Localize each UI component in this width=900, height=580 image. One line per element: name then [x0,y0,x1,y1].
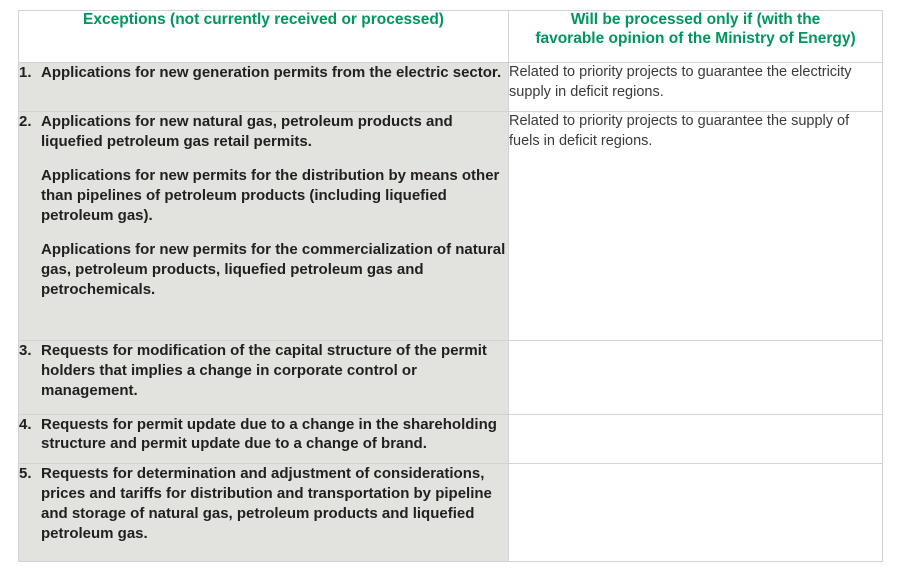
column-header-exceptions: Exceptions (not currently received or pr… [19,11,509,63]
exception-text-4: Requests for permit update due to a chan… [41,416,497,453]
table-row: 3.Requests for modification of the capit… [19,340,883,414]
table-row: 1.Applications for new generation permit… [19,63,883,112]
exception-number-2: 2. [19,112,41,132]
exceptions-table: Exceptions (not currently received or pr… [18,10,883,562]
condition-cell-2: Related to priority projects to guarante… [509,112,883,340]
exception-cell-1: 1.Applications for new generation permit… [19,63,509,112]
exception-text-2-para-3: Applications for new permits for the com… [19,240,508,300]
exception-number-1: 1. [19,63,41,83]
exceptions-table-container: Exceptions (not currently received or pr… [18,10,882,562]
exception-text-1: Applications for new generation permits … [41,64,501,81]
table-header: Exceptions (not currently received or pr… [19,11,883,63]
column-header-conditions-line2: favorable opinion of the Ministry of Ene… [535,30,855,47]
table-header-row: Exceptions (not currently received or pr… [19,11,883,63]
exception-cell-3: 3.Requests for modification of the capit… [19,340,509,414]
exception-number-4: 4. [19,415,41,435]
condition-cell-3 [509,340,883,414]
condition-text-2: Related to priority projects to guarante… [509,112,882,152]
table-body: 1.Applications for new generation permit… [19,63,883,562]
table-row: 5.Requests for determination and adjustm… [19,464,883,562]
condition-cell-1: Related to priority projects to guarante… [509,63,883,112]
exception-item-5: 5.Requests for determination and adjustm… [19,464,508,544]
exception-number-3: 3. [19,341,41,361]
table-row: 2.Applications for new natural gas, petr… [19,112,883,340]
exception-text-5: Requests for determination and adjustmen… [41,465,492,542]
condition-text-1: Related to priority projects to guarante… [509,63,882,103]
exception-text-2: Applications for new natural gas, petrol… [41,113,453,150]
exception-number-5: 5. [19,464,41,484]
column-header-conditions-line1: Will be processed only if (with the [571,11,821,28]
exception-item-1: 1.Applications for new generation permit… [19,63,508,83]
exception-cell-5: 5.Requests for determination and adjustm… [19,464,509,562]
table-row: 4.Requests for permit update due to a ch… [19,414,883,464]
exception-cell-4: 4.Requests for permit update due to a ch… [19,414,509,464]
exception-text-3: Requests for modification of the capital… [41,342,487,399]
condition-cell-4 [509,414,883,464]
column-header-conditions: Will be processed only if (with the favo… [509,11,883,63]
exception-text-2-para-2: Applications for new permits for the dis… [19,166,508,226]
exception-item-4: 4.Requests for permit update due to a ch… [19,415,508,455]
exception-item-3: 3.Requests for modification of the capit… [19,341,508,401]
exception-item-2: 2.Applications for new natural gas, petr… [19,112,508,152]
condition-cell-5 [509,464,883,562]
exception-cell-2: 2.Applications for new natural gas, petr… [19,112,509,340]
